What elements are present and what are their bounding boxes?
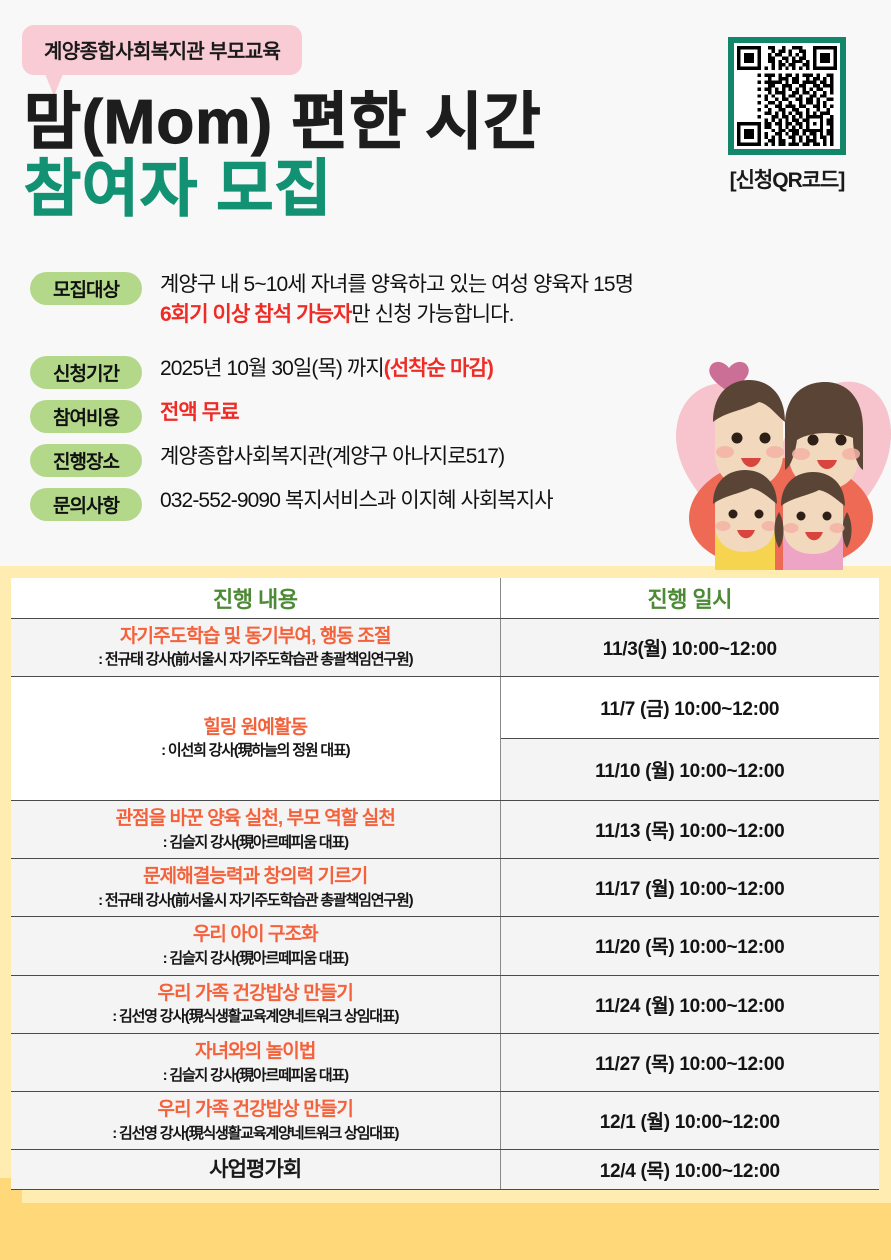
session-lecturer: : 김슬지 강사(現아르떼피움 대표) — [15, 833, 496, 853]
cell-content: 우리 가족 건강밥상 만들기: 김선영 강사(現식생활교육계양네트워크 상임대표… — [11, 1092, 500, 1150]
venue-value: 계양종합사회복지관(계양구 아나지로517) — [160, 442, 504, 472]
column-header-content: 진행 내용 — [11, 578, 500, 618]
schedule-backdrop-band-bottom — [0, 1203, 891, 1260]
qr-code-svg — [737, 46, 837, 146]
info-row-fee: 참여비용 전액 무료 — [30, 398, 690, 433]
session-datetime: 12/1 (월) 10:00~12:00 — [505, 1107, 876, 1134]
session-topic: 힐링 원예활동 — [15, 716, 496, 740]
cell-datetime: 12/4 (목) 10:00~12:00 — [500, 1150, 879, 1190]
table-row: 우리 아이 구조화: 김슬지 강사(現아르떼피움 대표)11/20 (목) 10… — [11, 917, 879, 975]
table-row: 사업평가회12/4 (목) 10:00~12:00 — [11, 1150, 879, 1190]
cell-content: 자기주도학습 및 동기부여, 행동 조절: 전규태 강사(前서울시 자기주도학습… — [11, 618, 500, 676]
info-row-venue: 진행장소 계양종합사회복지관(계양구 아나지로517) — [30, 442, 690, 477]
table-row: 문제해결능력과 창의력 기르기: 전규태 강사(前서울시 자기주도학습관 총괄책… — [11, 859, 879, 917]
cell-datetime: 11/3(월) 10:00~12:00 — [500, 618, 879, 676]
qr-caption-label: [신청QR코드] — [707, 164, 867, 194]
target-line-2-rest: 만 신청 가능합니다. — [351, 303, 513, 326]
cell-content: 힐링 원예활동: 이선희 강사(現하늘의 정원 대표) — [11, 676, 500, 800]
badge-fee: 참여비용 — [30, 400, 142, 433]
contact-value: 032-552-9090 복지서비스과 이지혜 사회복지사 — [160, 486, 553, 516]
cell-content: 관점을 바꾼 양육 실천, 부모 역할 실천: 김슬지 강사(現아르떼피움 대표… — [11, 800, 500, 858]
info-row-period: 신청기간 2025년 10월 30일(목) 까지(선착순 마감) — [30, 354, 690, 389]
info-row-target: 모집대상 계양구 내 5~10세 자녀를 양육하고 있는 여성 양육자 15명 … — [30, 270, 690, 330]
schedule-table-head: 진행 내용 진행 일시 — [11, 578, 879, 618]
session-topic: 관점을 바꾼 양육 실천, 부모 역할 실천 — [15, 807, 496, 831]
daughter-figure — [775, 472, 852, 570]
session-topic: 자기주도학습 및 동기부여, 행동 조절 — [15, 625, 496, 649]
session-lecturer: : 전규태 강사(前서울시 자기주도학습관 총괄책임연구원) — [15, 891, 496, 911]
session-lecturer: : 이선희 강사(現하늘의 정원 대표) — [15, 741, 496, 761]
info-body-period: 2025년 10월 30일(목) 까지(선착순 마감) — [160, 354, 493, 384]
session-datetime: 11/10 (월) 10:00~12:00 — [505, 756, 876, 783]
session-datetime: 11/17 (월) 10:00~12:00 — [505, 874, 876, 901]
cell-datetime: 11/27 (목) 10:00~12:00 — [500, 1033, 879, 1091]
badge-contact: 문의사항 — [30, 488, 142, 521]
cell-content: 사업평가회 — [11, 1150, 500, 1190]
title-line-1: 맘(Mom) 편한 시간 — [24, 92, 542, 153]
period-emphasis: (선착순 마감) — [384, 357, 493, 380]
schedule-table-body: 자기주도학습 및 동기부여, 행동 조절: 전규태 강사(前서울시 자기주도학습… — [11, 618, 879, 1190]
qr-block[interactable]: [신청QR코드] — [707, 37, 867, 194]
cell-datetime: 11/13 (목) 10:00~12:00 — [500, 800, 879, 858]
session-topic: 우리 가족 건강밥상 만들기 — [15, 1098, 496, 1122]
session-lecturer: : 김선영 강사(現식생활교육계양네트워크 상임대표) — [15, 1124, 496, 1144]
qr-code-icon[interactable] — [728, 37, 846, 155]
info-body-target: 계양구 내 5~10세 자녀를 양육하고 있는 여성 양육자 15명 6회기 이… — [160, 270, 633, 330]
session-topic: 우리 아이 구조화 — [15, 923, 496, 947]
session-datetime: 12/4 (목) 10:00~12:00 — [505, 1156, 876, 1183]
table-row: 우리 가족 건강밥상 만들기: 김선영 강사(現식생활교육계양네트워크 상임대표… — [11, 975, 879, 1033]
column-header-datetime: 진행 일시 — [500, 578, 879, 618]
page-title: 맘(Mom) 편한 시간 참여자 모집 — [24, 92, 542, 221]
schedule-table: 진행 내용 진행 일시 자기주도학습 및 동기부여, 행동 조절: 전규태 강사… — [11, 578, 879, 1190]
info-row-contact: 문의사항 032-552-9090 복지서비스과 이지혜 사회복지사 — [30, 486, 690, 521]
cell-content: 문제해결능력과 창의력 기르기: 전규태 강사(前서울시 자기주도학습관 총괄책… — [11, 859, 500, 917]
cell-datetime: 11/7 (금) 10:00~12:00 — [500, 676, 879, 738]
session-lecturer: : 김슬지 강사(現아르떼피움 대표) — [15, 949, 496, 969]
family-illustration-svg — [671, 330, 891, 570]
session-lecturer: : 김선영 강사(現식생활교육계양네트워크 상임대표) — [15, 1007, 496, 1027]
info-body-fee: 전액 무료 — [160, 398, 239, 428]
cell-content: 우리 아이 구조화: 김슬지 강사(現아르떼피움 대표) — [11, 917, 500, 975]
son-figure — [713, 470, 777, 570]
badge-venue: 진행장소 — [30, 444, 142, 477]
target-line-2: 6회기 이상 참석 가능자만 신청 가능합니다. — [160, 300, 633, 330]
info-body-contact: 032-552-9090 복지서비스과 이지혜 사회복지사 — [160, 486, 553, 516]
badge-target: 모집대상 — [30, 272, 142, 305]
session-datetime: 11/24 (월) 10:00~12:00 — [505, 991, 876, 1018]
schedule-backdrop-band-left — [0, 1178, 22, 1260]
organization-tag-label: 계양종합사회복지관 부모교육 — [44, 35, 280, 64]
badge-period: 신청기간 — [30, 356, 142, 389]
family-illustration — [671, 330, 891, 570]
table-row: 우리 가족 건강밥상 만들기: 김선영 강사(現식생활교육계양네트워크 상임대표… — [11, 1092, 879, 1150]
table-row: 힐링 원예활동: 이선희 강사(現하늘의 정원 대표)11/7 (금) 10:0… — [11, 676, 879, 738]
table-row: 자기주도학습 및 동기부여, 행동 조절: 전규태 강사(前서울시 자기주도학습… — [11, 618, 879, 676]
session-datetime: 11/3(월) 10:00~12:00 — [505, 634, 876, 661]
period-line: 2025년 10월 30일(목) 까지(선착순 마감) — [160, 354, 493, 384]
session-datetime: 11/20 (목) 10:00~12:00 — [505, 932, 876, 959]
session-datetime: 11/27 (목) 10:00~12:00 — [505, 1049, 876, 1076]
schedule-header-row: 진행 내용 진행 일시 — [11, 578, 879, 618]
table-row: 자녀와의 놀이법: 김슬지 강사(現아르떼피움 대표)11/27 (목) 10:… — [11, 1033, 879, 1091]
session-datetime: 11/13 (목) 10:00~12:00 — [505, 816, 876, 843]
cell-datetime: 11/17 (월) 10:00~12:00 — [500, 859, 879, 917]
cell-datetime: 11/20 (목) 10:00~12:00 — [500, 917, 879, 975]
cell-datetime: 11/10 (월) 10:00~12:00 — [500, 738, 879, 800]
session-topic: 우리 가족 건강밥상 만들기 — [15, 982, 496, 1006]
session-topic: 사업평가회 — [15, 1157, 496, 1183]
session-lecturer: : 김슬지 강사(現아르떼피움 대표) — [15, 1066, 496, 1086]
session-lecturer: : 전규태 강사(前서울시 자기주도학습관 총괄책임연구원) — [15, 650, 496, 670]
session-topic: 문제해결능력과 창의력 기르기 — [15, 865, 496, 889]
organization-tag-bubble: 계양종합사회복지관 부모교육 — [22, 25, 302, 75]
cell-datetime: 12/1 (월) 10:00~12:00 — [500, 1092, 879, 1150]
session-datetime: 11/7 (금) 10:00~12:00 — [505, 694, 876, 721]
info-section: 모집대상 계양구 내 5~10세 자녀를 양육하고 있는 여성 양육자 15명 … — [30, 270, 690, 530]
target-line-1: 계양구 내 5~10세 자녀를 양육하고 있는 여성 양육자 15명 — [160, 270, 633, 300]
poster-root: 계양종합사회복지관 부모교육 맘(Mom) 편한 시간 참여자 모집 — [0, 0, 891, 1260]
title-line-2: 참여자 모집 — [24, 159, 542, 220]
target-line-2-emphasis: 6회기 이상 참석 가능자 — [160, 303, 351, 326]
cell-content: 우리 가족 건강밥상 만들기: 김선영 강사(現식생활교육계양네트워크 상임대표… — [11, 975, 500, 1033]
period-date: 2025년 10월 30일(목) 까지 — [160, 357, 384, 380]
cell-datetime: 11/24 (월) 10:00~12:00 — [500, 975, 879, 1033]
cell-content: 자녀와의 놀이법: 김슬지 강사(現아르떼피움 대표) — [11, 1033, 500, 1091]
fee-value: 전액 무료 — [160, 398, 239, 428]
info-body-venue: 계양종합사회복지관(계양구 아나지로517) — [160, 442, 504, 472]
session-topic: 자녀와의 놀이법 — [15, 1040, 496, 1064]
table-row: 관점을 바꾼 양육 실천, 부모 역할 실천: 김슬지 강사(現아르떼피움 대표… — [11, 800, 879, 858]
